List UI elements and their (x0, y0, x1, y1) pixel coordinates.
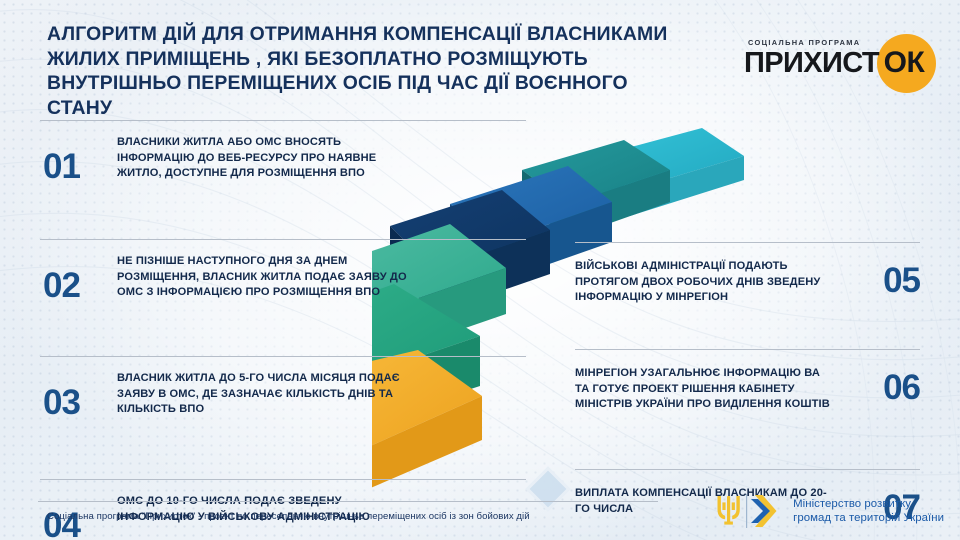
ministry-name: Міністерство розвитку громад та територі… (793, 497, 944, 525)
page-title: АЛГОРИТМ ДІЙ ДЛЯ ОТРИМАННЯ КОМПЕНСАЦІЇ В… (47, 22, 687, 120)
header: АЛГОРИТМ ДІЙ ДЛЯ ОТРИМАННЯ КОМПЕНСАЦІЇ В… (0, 0, 960, 118)
steps-column-left: 01 ВЛАСНИКИ ЖИТЛА АБО ОМС ВНОСЯТЬ ІНФОРМ… (40, 120, 526, 540)
footer-note: Соціальна програма "Прихисток" - проект … (47, 511, 530, 522)
decorative-diamond (525, 466, 570, 511)
step-item-05: ВІЙСЬКОВІ АДМІНІСТРАЦІЇ ПОДАЮТЬ ПРОТЯГОМ… (575, 242, 920, 349)
brand-logo-prykhystok: СОЦІАЛЬНА ПРОГРАМА ПРИХИСТ ОК (738, 32, 938, 96)
step-description: ВЛАСНИК ЖИТЛА ДО 5-ГО ЧИСЛА МІСЯЦЯ ПОДАЄ… (117, 371, 417, 418)
brand-wordmark: ПРИХИСТ (744, 49, 879, 78)
step-item-01: 01 ВЛАСНИКИ ЖИТЛА АБО ОМС ВНОСЯТЬ ІНФОРМ… (40, 120, 526, 239)
step-number: 06 (854, 364, 920, 405)
step-description: МІНРЕГІОН УЗАГАЛЬНЮЄ ІНФОРМАЦІЮ ВА ТА ГО… (575, 364, 837, 413)
step-item-02: 02 НЕ ПІЗНІШЕ НАСТУПНОГО ДНЯ ЗА ДНЕМ РОЗ… (40, 239, 526, 356)
step-number: 03 (43, 371, 117, 420)
step-description: ВЛАСНИКИ ЖИТЛА АБО ОМС ВНОСЯТЬ ІНФОРМАЦІ… (117, 135, 417, 182)
step-item-04: 04 ОМС ДО 10-ГО ЧИСЛА ПОДАЄ ЗВЕДЕНУ ІНФО… (40, 479, 526, 540)
footer-divider (38, 501, 658, 502)
step-description: ВІЙСЬКОВІ АДМІНІСТРАЦІЇ ПОДАЮТЬ ПРОТЯГОМ… (575, 257, 837, 306)
step-item-03: 03 ВЛАСНИК ЖИТЛА ДО 5-ГО ЧИСЛА МІСЯЦЯ ПО… (40, 356, 526, 479)
step-number: 05 (854, 257, 920, 298)
step-number: 01 (43, 135, 117, 184)
infographic-poster: АЛГОРИТМ ДІЙ ДЛЯ ОТРИМАННЯ КОМПЕНСАЦІЇ В… (0, 0, 960, 540)
ministry-emblem-icon (707, 490, 785, 532)
step-item-06: МІНРЕГІОН УЗАГАЛЬНЮЄ ІНФОРМАЦІЮ ВА ТА ГО… (575, 349, 920, 469)
brand-badge-ok: ОК (876, 48, 932, 78)
step-number: 02 (43, 254, 117, 303)
step-description: НЕ ПІЗНІШЕ НАСТУПНОГО ДНЯ ЗА ДНЕМ РОЗМІЩ… (117, 254, 417, 301)
ministry-name-line1: Міністерство розвитку (793, 497, 944, 511)
ministry-logo: Міністерство розвитку громад та територі… (707, 489, 944, 533)
brand-kicker: СОЦІАЛЬНА ПРОГРАМА (748, 38, 861, 47)
ministry-name-line2: громад та територій України (793, 511, 944, 525)
stair-step-7 (590, 128, 744, 216)
stair-step-6 (522, 140, 670, 238)
